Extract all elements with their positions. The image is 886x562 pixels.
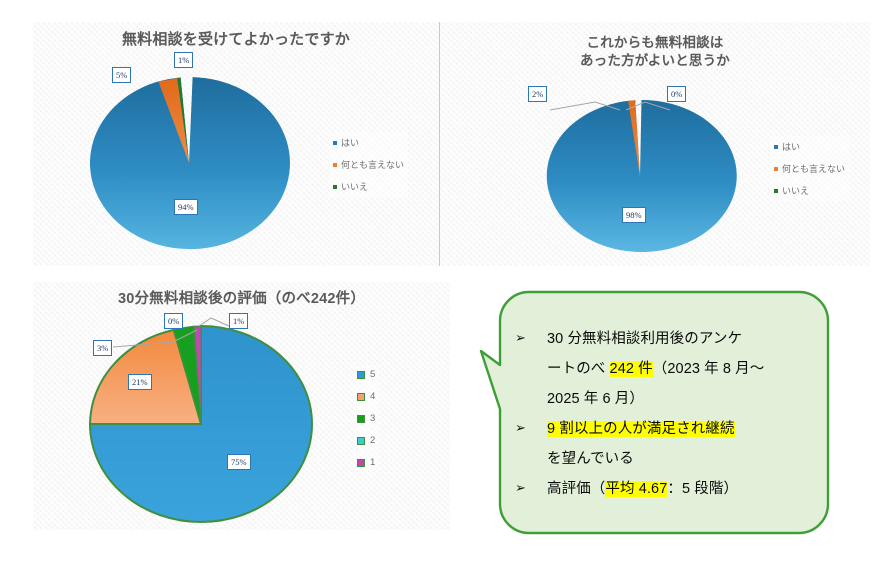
legend-swatch-5 bbox=[357, 371, 365, 379]
legend-swatch-iie bbox=[333, 185, 337, 189]
legend-swatch-hai bbox=[333, 141, 337, 145]
bullet1-line2a: ートのべ bbox=[547, 361, 610, 377]
bullet3-suffix: ：5 段階） bbox=[667, 481, 738, 497]
pie-chart-rating bbox=[90, 326, 312, 522]
legend-swatch-nantomo bbox=[333, 163, 337, 167]
callout-bullet-2-text: 9 割以上の人が満足され継続 を望んでいる bbox=[547, 414, 815, 474]
chart-panel-continue: これからも無料相談は あった方がよいと思うか bbox=[440, 22, 870, 266]
legend-item-nantomo: 何とも言えない bbox=[774, 162, 845, 175]
legend-label-iie: いいえ bbox=[341, 180, 368, 193]
bullet-arrow-icon: ➢ bbox=[507, 414, 547, 444]
pie-label-continue-iie: 0% bbox=[667, 86, 686, 102]
legend-item-nantomo: 何とも言えない bbox=[333, 158, 404, 171]
bullet-arrow-icon: ➢ bbox=[507, 324, 547, 354]
legend-label-5: 5 bbox=[370, 369, 375, 380]
legend-swatch-2 bbox=[357, 437, 365, 445]
callout-bullet-3: ➢ 高評価（平均 4.67：5 段階） bbox=[507, 474, 815, 504]
legend-label-4: 4 bbox=[370, 391, 375, 402]
legend-label-3: 3 bbox=[370, 413, 375, 424]
pie-label-rating-5: 75% bbox=[227, 454, 251, 470]
legend-swatch-hai bbox=[774, 145, 778, 149]
pie-label-satisfaction-iie: 1% bbox=[174, 52, 193, 68]
chart-title-continue-line2: あった方がよいと思うか bbox=[440, 52, 870, 70]
slide-canvas: 無料相談を受けてよかったですか bbox=[0, 0, 886, 562]
pie-chart-satisfaction bbox=[89, 77, 289, 249]
bullet2-line2: を望んでいる bbox=[547, 451, 634, 467]
legend-item-iie: いいえ bbox=[774, 184, 845, 197]
pie-label-rating-3: 3% bbox=[93, 340, 112, 356]
legend-swatch-4 bbox=[357, 393, 365, 401]
pie-label-rating-2: 0% bbox=[164, 313, 183, 329]
legend-label-hai: はい bbox=[782, 140, 800, 153]
chart-title-continue-line1: これからも無料相談は bbox=[440, 34, 870, 52]
callout-bullet-2: ➢ 9 割以上の人が満足され継続 を望んでいる bbox=[507, 414, 815, 474]
legend-item-5: 5 bbox=[357, 369, 375, 380]
pie-label-continue-nantomo: 2% bbox=[528, 86, 547, 102]
bullet3-highlight-mean: 平均 4.67 bbox=[605, 481, 667, 497]
legend-label-1: 1 bbox=[370, 457, 375, 468]
chart-panel-rating: 30分無料相談後の評価（のべ242件） bbox=[33, 282, 450, 530]
legend-label-nantomo: 何とも言えない bbox=[341, 158, 404, 171]
pie-label-rating-4: 21% bbox=[128, 374, 152, 390]
pie-label-satisfaction-hai: 94% bbox=[174, 199, 198, 215]
legend-label-nantomo: 何とも言えない bbox=[782, 162, 845, 175]
pie-chart-continue bbox=[545, 100, 735, 252]
pie-label-satisfaction-nantomo: 5% bbox=[112, 67, 131, 83]
callout-bullet-3-text: 高評価（平均 4.67：5 段階） bbox=[547, 474, 815, 504]
callout-text-body: ➢ 30 分無料相談利用後のアンケ ートのべ 242 件（2023 年 8 月～… bbox=[507, 301, 825, 526]
legend-item-iie: いいえ bbox=[333, 180, 404, 193]
bullet2-highlight: 9 割以上の人が満足され継続 bbox=[547, 421, 735, 437]
bullet1-line3: 2025 年 6 月） bbox=[547, 391, 644, 407]
bullet1-line1: 30 分無料相談利用後のアンケ bbox=[547, 331, 742, 347]
legend-label-2: 2 bbox=[370, 435, 375, 446]
bullet1-line2c: （2023 年 8 月～ bbox=[653, 361, 765, 377]
legend-item-2: 2 bbox=[357, 435, 375, 446]
legend-item-hai: はい bbox=[774, 140, 845, 153]
summary-callout: ➢ 30 分無料相談利用後のアンケ ートのべ 242 件（2023 年 8 月～… bbox=[479, 289, 831, 536]
legend-swatch-3 bbox=[357, 415, 365, 423]
chart-title-satisfaction: 無料相談を受けてよかったですか bbox=[33, 30, 439, 49]
pie-label-rating-1: 1% bbox=[229, 313, 248, 329]
legend-label-iie: いいえ bbox=[782, 184, 809, 197]
legend-swatch-iie bbox=[774, 189, 778, 193]
chart-panel-satisfaction: 無料相談を受けてよかったですか bbox=[33, 22, 439, 266]
bullet-arrow-icon: ➢ bbox=[507, 474, 547, 504]
legend-label-hai: はい bbox=[341, 136, 359, 149]
legend-rating: 5 4 3 2 1 bbox=[353, 366, 379, 471]
legend-continue: はい 何とも言えない いいえ bbox=[770, 136, 849, 201]
legend-item-4: 4 bbox=[357, 391, 375, 402]
legend-swatch-nantomo bbox=[774, 167, 778, 171]
bullet1-highlight-count: 242 件 bbox=[610, 361, 653, 377]
pie-label-continue-hai: 98% bbox=[622, 207, 646, 223]
legend-item-1: 1 bbox=[357, 457, 375, 468]
legend-satisfaction: はい 何とも言えない いいえ bbox=[329, 132, 408, 197]
callout-bullet-1-text: 30 分無料相談利用後のアンケ ートのべ 242 件（2023 年 8 月～ 2… bbox=[547, 324, 815, 414]
legend-swatch-1 bbox=[357, 459, 365, 467]
callout-bullet-1: ➢ 30 分無料相談利用後のアンケ ートのべ 242 件（2023 年 8 月～… bbox=[507, 324, 815, 414]
chart-title-rating: 30分無料相談後の評価（のべ242件） bbox=[33, 290, 450, 309]
bullet3-prefix: 高評価（ bbox=[547, 481, 605, 497]
legend-item-3: 3 bbox=[357, 413, 375, 424]
legend-item-hai: はい bbox=[333, 136, 404, 149]
